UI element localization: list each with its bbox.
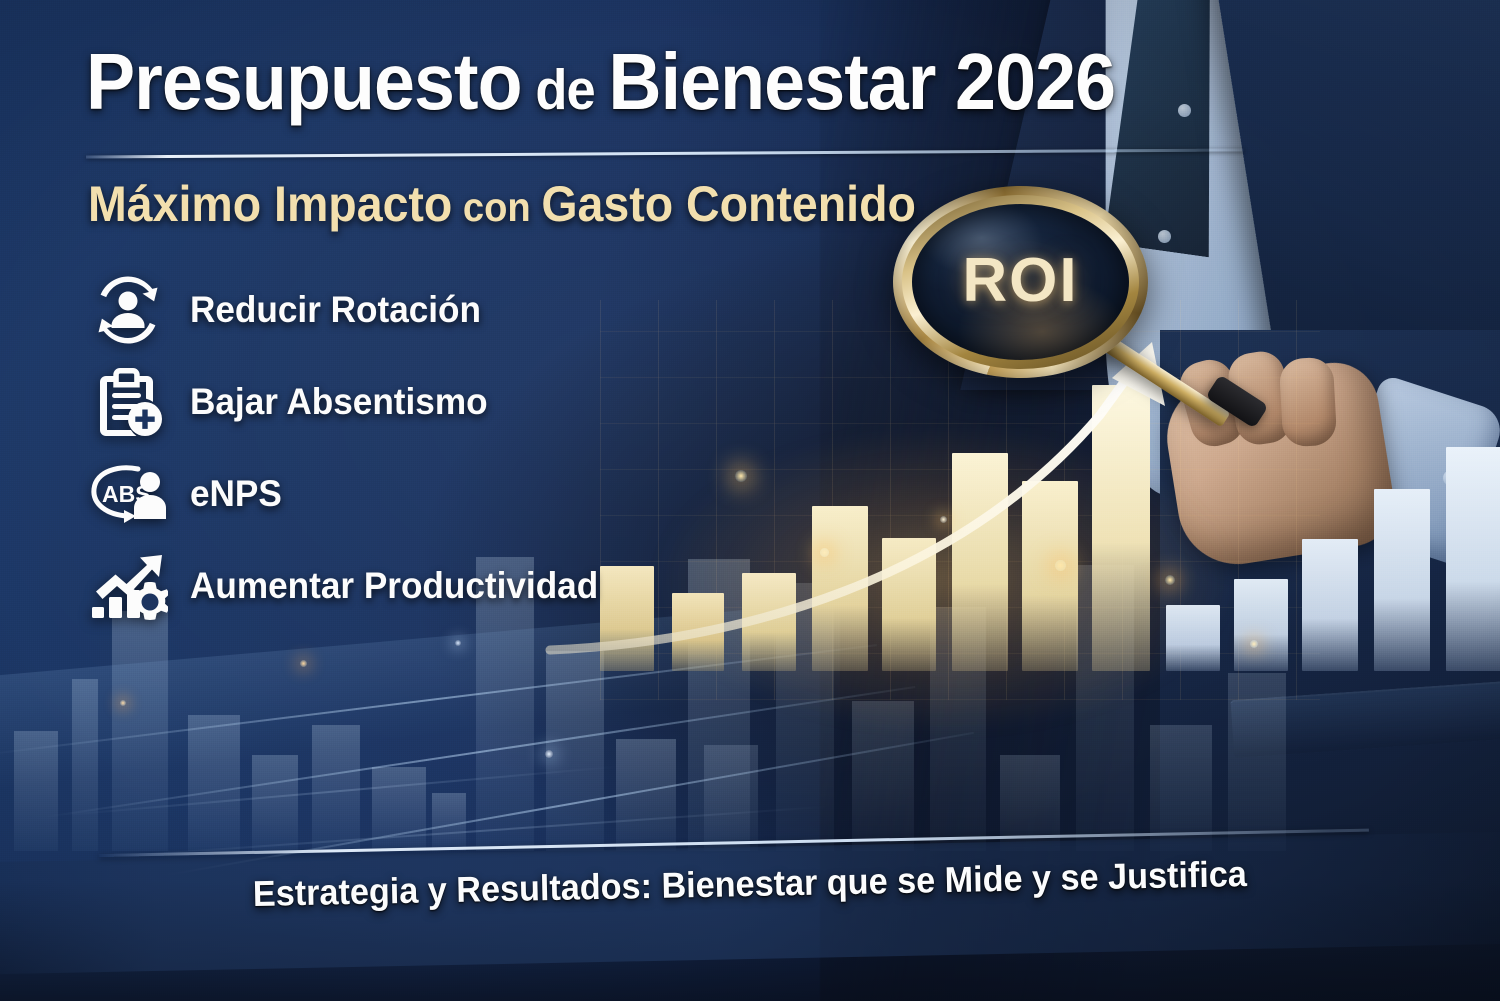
list-item-label: eNPS bbox=[190, 473, 282, 515]
employee-turnover-icon bbox=[80, 272, 176, 348]
growth-gear-icon bbox=[80, 548, 176, 624]
list-item: Reducir Rotación bbox=[80, 264, 780, 356]
benefit-list: Reducir Rotación Bajar Absentismo bbox=[80, 264, 780, 632]
list-item-label: Bajar Absentismo bbox=[190, 381, 488, 423]
subtitle-part-2: con bbox=[463, 184, 531, 230]
list-item: ABS eNPS bbox=[80, 448, 780, 540]
list-item: Aumentar Productividad bbox=[80, 540, 780, 632]
page-title: Presupuesto de Bienestar 2026 bbox=[86, 36, 1115, 128]
title-part-1: Presupuesto bbox=[86, 37, 522, 126]
page-subtitle: Máximo Impacto con Gasto Contenido bbox=[88, 175, 916, 233]
magnifying-glass-icon: ROI bbox=[893, 186, 1148, 378]
list-item-label: Aumentar Productividad bbox=[190, 565, 598, 607]
clipboard-plus-icon bbox=[80, 364, 176, 440]
subtitle-part-1: Máximo Impacto bbox=[88, 176, 452, 232]
abs-person-icon: ABS bbox=[80, 456, 176, 532]
roi-label: ROI bbox=[962, 245, 1078, 316]
list-item-label: Reducir Rotación bbox=[190, 289, 481, 331]
title-part-2: de bbox=[535, 58, 594, 122]
subtitle-part-3: Gasto Contenido bbox=[541, 176, 916, 232]
magnifier-lens: ROI bbox=[912, 204, 1129, 360]
title-part-3: Bienestar 2026 bbox=[608, 37, 1115, 126]
poster-root: ROI Presupuesto de Bienestar 2026 Máximo… bbox=[0, 0, 1500, 1001]
footer-banner: Estrategia y Resultados: Bienestar que s… bbox=[0, 785, 1500, 996]
list-item: Bajar Absentismo bbox=[80, 356, 780, 448]
